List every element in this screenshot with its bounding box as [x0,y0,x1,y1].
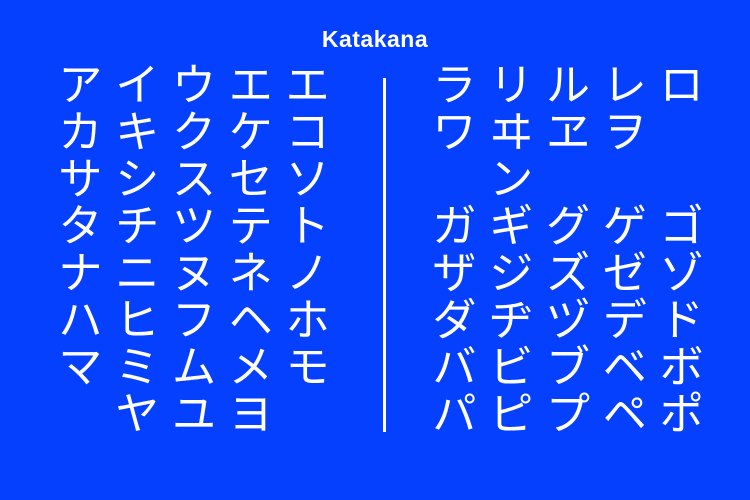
kana-cell: ダ [426,297,483,344]
kana-cell: カ [52,109,109,156]
kana-cell: チ [109,203,166,250]
kana-cell: ワ [426,109,483,156]
kana-cell: ホ [279,297,336,344]
kana-cell: エ [279,62,336,109]
kana-cell: ゼ [596,250,653,297]
kana-cell: コ [279,109,336,156]
kana-cell: ソ [279,156,336,203]
kana-cell: ペ [596,391,653,438]
kana-cell: ヒ [109,297,166,344]
kana-cell: ヘ [222,297,279,344]
page-title: Katakana [0,28,750,51]
kana-cell: フ [166,297,223,344]
kana-cell: ネ [222,250,279,297]
kana-cell: ハ [52,297,109,344]
kana-cell: エ [222,62,279,109]
kana-cell: ス [166,156,223,203]
kana-cell: ボ [653,344,710,391]
kana-cell: ギ [483,203,540,250]
kana-cell: ウ [166,62,223,109]
kana-cell: リ [483,62,540,109]
kana-cell: ニ [109,250,166,297]
katakana-poster: Katakana アイウエエカキクケコサシスセソタチツテトナニヌネノハヒフヘホマ… [0,0,750,500]
kana-cell: ノ [279,250,336,297]
kana-cell: タ [52,203,109,250]
kana-cell: ケ [222,109,279,156]
kana-cell: ブ [540,344,597,391]
kana-cell: ヌ [166,250,223,297]
kana-cell: グ [540,203,597,250]
kana-cell: ザ [426,250,483,297]
kana-cell: シ [109,156,166,203]
kana-cell: メ [222,344,279,391]
kana-cell: ポ [653,391,710,438]
kana-cell: ン [483,156,540,203]
kana-cell: ヅ [540,297,597,344]
kana-cell: ジ [483,250,540,297]
kana-cell: ナ [52,250,109,297]
kana-cell: セ [222,156,279,203]
kana-cell: ヤ [109,391,166,438]
kana-cell: バ [426,344,483,391]
kana-cell: パ [426,391,483,438]
kana-cell: キ [109,109,166,156]
kana-cell: ヱ [540,109,597,156]
kana-cell: ツ [166,203,223,250]
kana-cell: ラ [426,62,483,109]
kana-cell: ガ [426,203,483,250]
katakana-grid-left: アイウエエカキクケコサシスセソタチツテトナニヌネノハヒフヘホマミムメモヤユヨ [52,62,336,438]
kana-cell: マ [52,344,109,391]
kana-cell: プ [540,391,597,438]
kana-cell: ヰ [483,109,540,156]
kana-cell: ピ [483,391,540,438]
kana-cell: ヨ [222,391,279,438]
kana-cell: ヲ [596,109,653,156]
kana-cell: テ [222,203,279,250]
kana-cell: イ [109,62,166,109]
kana-cell: ゾ [653,250,710,297]
katakana-grid-right: ラリルレロワヰヱヲンガギグゲゴザジズゼゾダヂヅデドバビブベボパピプペポ [426,62,710,438]
kana-cell: ベ [596,344,653,391]
kana-cell: ド [653,297,710,344]
kana-cell: ゴ [653,203,710,250]
kana-cell: ヂ [483,297,540,344]
kana-cell: ク [166,109,223,156]
column-divider [383,78,386,432]
kana-cell: ユ [166,391,223,438]
kana-cell: ト [279,203,336,250]
kana-cell: ロ [653,62,710,109]
kana-cell: モ [279,344,336,391]
kana-cell: ビ [483,344,540,391]
kana-cell: ム [166,344,223,391]
kana-cell: ズ [540,250,597,297]
kana-cell: デ [596,297,653,344]
kana-cell: ゲ [596,203,653,250]
kana-cell: ミ [109,344,166,391]
kana-cell: ア [52,62,109,109]
kana-cell: サ [52,156,109,203]
kana-cell: レ [596,62,653,109]
kana-cell: ル [540,62,597,109]
